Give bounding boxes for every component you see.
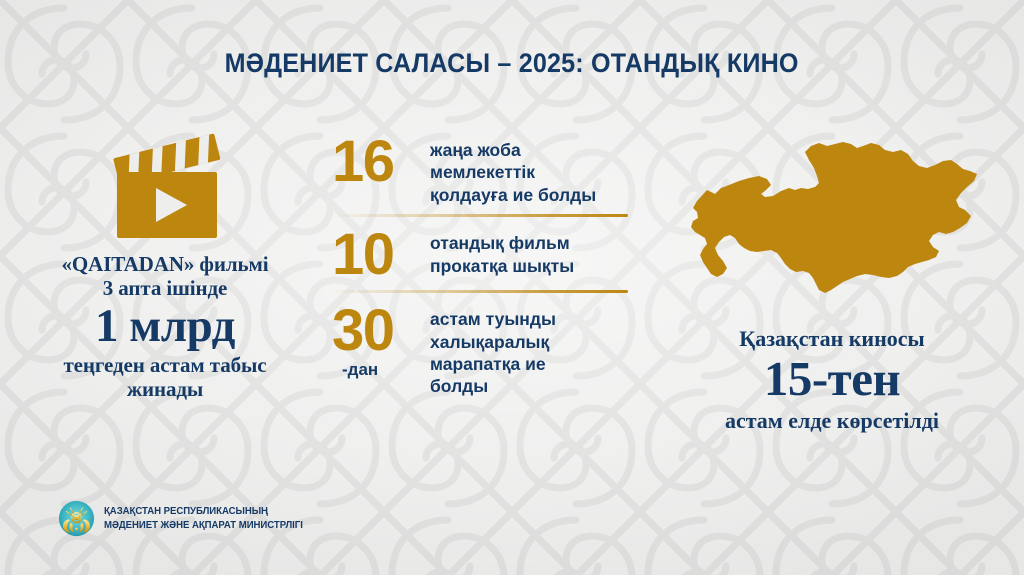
page-title: МӘДЕНИЕТ САЛАСЫ – 2025: ОТАНДЫҚ КИНО <box>225 48 799 79</box>
stat-number: 30 <box>332 303 418 358</box>
film-clapperboard-icon <box>99 124 231 242</box>
stat-divider <box>336 214 628 217</box>
stat-divider <box>336 290 628 293</box>
right-panel-text: Қазақстан киносы 15-тен астам елде көрсе… <box>640 326 1024 433</box>
content-columns: «QAITADAN» фильмі 3 апта ішінде 1 млрд т… <box>0 110 1024 470</box>
ministry-name: ҚАЗАҚСТАН РЕСПУБЛИКАСЫНЫҢ МӘДЕНИЕТ ЖӘНЕ … <box>104 505 303 531</box>
stat-item: 16 жаңа жоба мемлекеттік қолдауға ие бол… <box>332 134 632 206</box>
stat-description-line: марапатқа ие <box>430 353 632 375</box>
stat-number-wrap: 16 <box>332 134 418 189</box>
stat-number: 16 <box>332 134 418 189</box>
left-line-4: жинады <box>0 377 330 401</box>
right-panel: Қазақстан киносы 15-тен астам елде көрсе… <box>640 110 1024 433</box>
stat-description: жаңа жоба мемлекеттік қолдауға ие болды <box>430 134 632 206</box>
left-line-2: 3 апта ішінде <box>0 276 330 300</box>
right-line-1: Қазақстан киносы <box>640 326 1024 351</box>
infographic-poster: МӘДЕНИЕТ САЛАСЫ – 2025: ОТАНДЫҚ КИНО <box>0 0 1024 575</box>
left-line-3: теңгеден астам табыс <box>0 353 330 377</box>
left-panel: «QAITADAN» фильмі 3 апта ішінде 1 млрд т… <box>0 110 330 470</box>
stat-description-line: прокатқа шықты <box>430 255 632 277</box>
stat-item: 10 отандық фильм прокатқа шықты <box>332 227 632 282</box>
stat-description-line: отандық фильм <box>430 232 632 254</box>
stat-description-line: халықаралық <box>430 331 632 353</box>
stat-description-line: болды <box>430 375 632 397</box>
ministry-name-line-1: ҚАЗАҚСТАН РЕСПУБЛИКАСЫНЫҢ <box>104 505 303 518</box>
stat-number: 10 <box>332 227 418 282</box>
right-highlight-value: 15-тен <box>640 353 1024 406</box>
stat-number-wrap: 10 <box>332 227 418 282</box>
left-panel-text: «QAITADAN» фильмі 3 апта ішінде 1 млрд т… <box>0 252 330 401</box>
statistics-list: 16 жаңа жоба мемлекеттік қолдауға ие бол… <box>332 134 632 398</box>
left-line-1: «QAITADAN» фильмі <box>0 252 330 276</box>
stat-description: отандық фильм прокатқа шықты <box>430 227 632 277</box>
right-line-2: астам елде көрсетілді <box>640 408 1024 433</box>
stat-description-line: қолдауға ие болды <box>430 184 632 206</box>
stat-description: астам туынды халықаралық марапатқа ие бо… <box>430 303 632 398</box>
kazakhstan-state-emblem-icon <box>58 500 95 537</box>
stat-description-line: жаңа жоба <box>430 139 632 161</box>
stat-item: 30 -дан астам туынды халықаралық марапат… <box>332 303 632 398</box>
ministry-name-line-2: МӘДЕНИЕТ ЖӘНЕ АҚПАРАТ МИНИСТРЛІГІ <box>104 519 303 532</box>
stat-number-wrap: 30 -дан <box>332 303 418 380</box>
ministry-logo: ҚАЗАҚСТАН РЕСПУБЛИКАСЫНЫҢ МӘДЕНИЕТ ЖӘНЕ … <box>58 500 311 537</box>
stat-description-line: астам туынды <box>430 308 632 330</box>
kazakhstan-map-icon <box>667 138 997 318</box>
stat-description-line: мемлекеттік <box>430 161 632 183</box>
stat-number-suffix: -дан <box>342 360 418 380</box>
left-highlight-value: 1 млрд <box>0 302 330 352</box>
title-bar: МӘДЕНИЕТ САЛАСЫ – 2025: ОТАНДЫҚ КИНО <box>0 48 1024 79</box>
